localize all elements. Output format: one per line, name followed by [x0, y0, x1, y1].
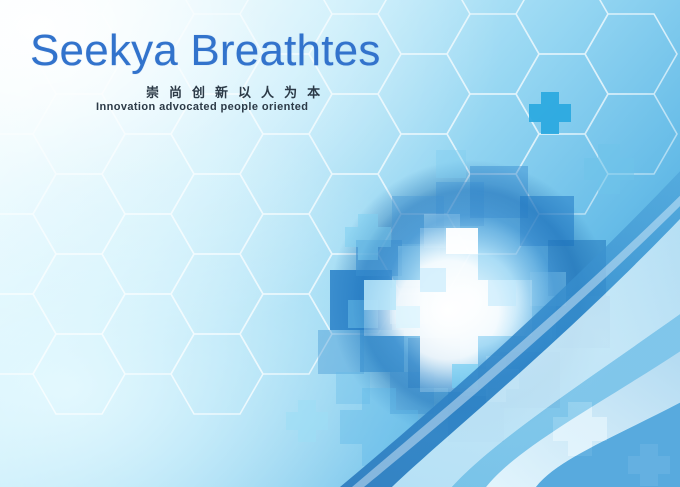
poster-canvas: Seekya Breathtes 崇 尚 创 新 以 人 为 本 Innovat…	[0, 0, 680, 487]
ribbon-curves-layer	[0, 0, 680, 487]
